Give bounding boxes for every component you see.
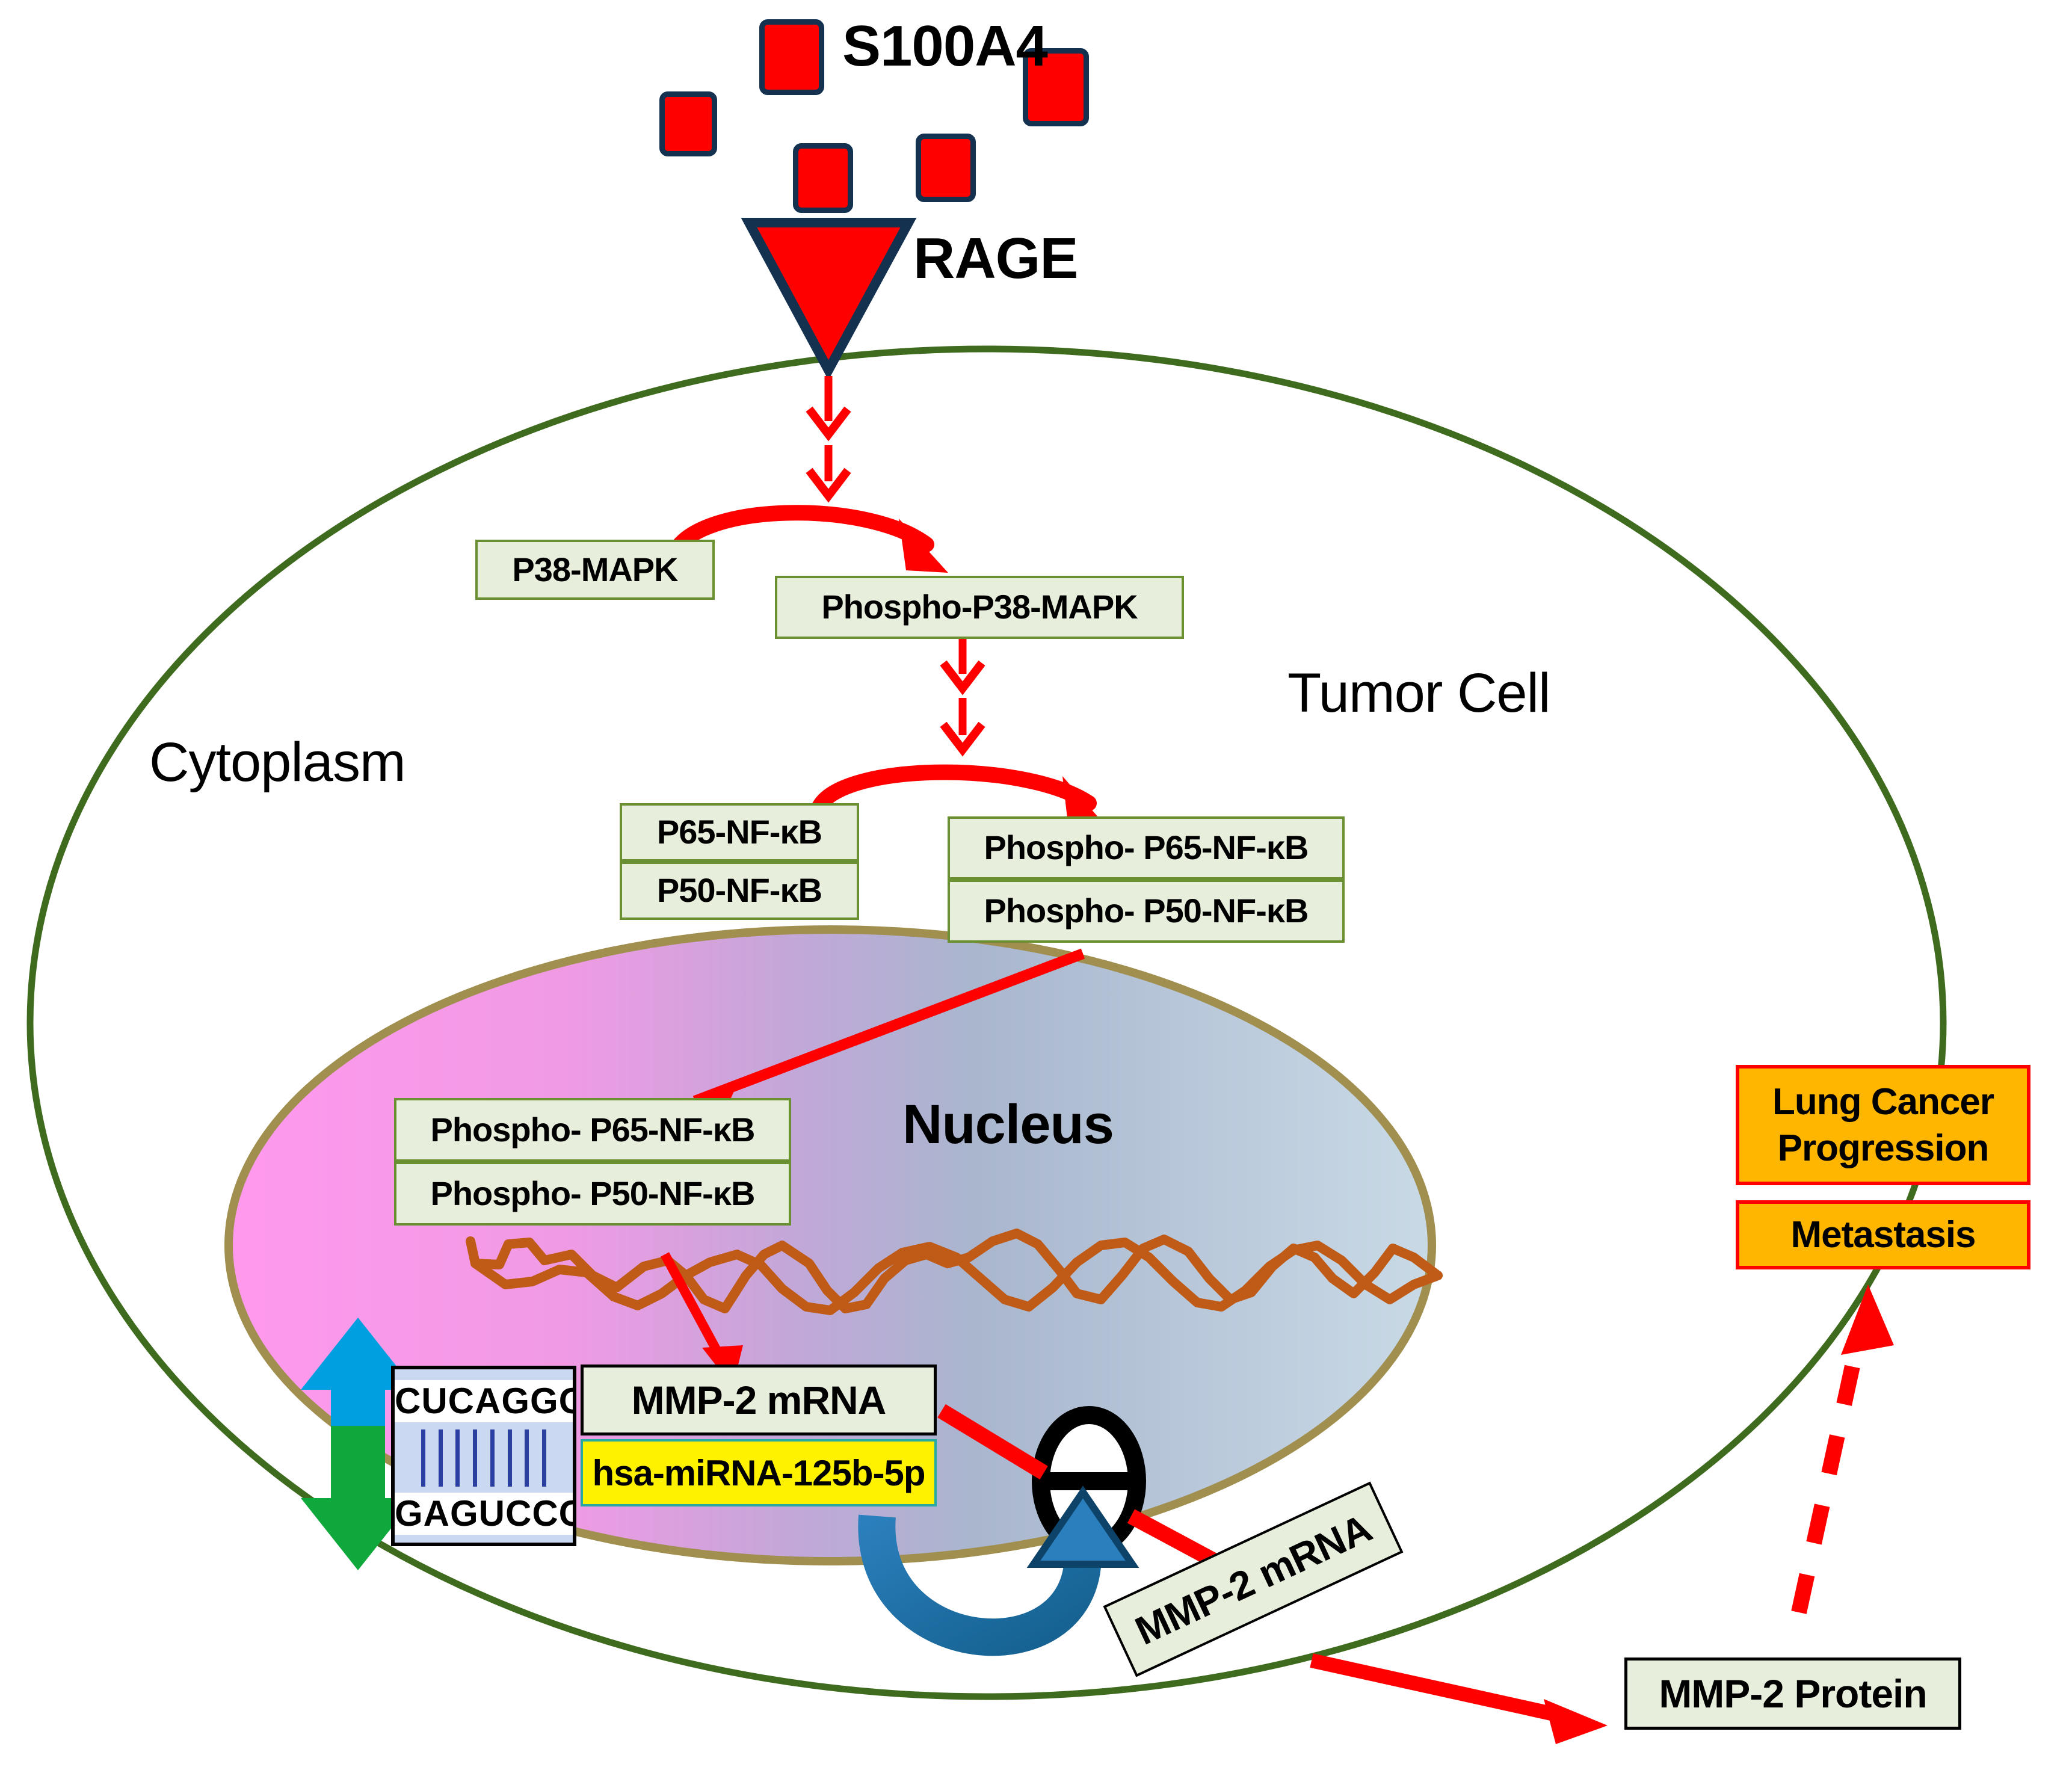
pathway-diagram: S100A4 RAGE Tumor Cell Cytoplasm Nucleus…: [0, 0, 2072, 1767]
node-phospho-p50-nfkb[interactable]: Phospho- P50-NF-κB: [948, 880, 1345, 943]
arrow-p38-to-phospho-p38: [674, 513, 948, 573]
s100a4-monomer: [793, 143, 853, 213]
node-p65-nfkb[interactable]: P65-NF-κB: [620, 803, 859, 862]
bond: [439, 1429, 443, 1487]
arrow-protein-to-metastasis: [1799, 1284, 1894, 1612]
node-mmp2-mrna-nuclear[interactable]: MMP-2 mRNA: [581, 1365, 937, 1435]
node-p38-mapk[interactable]: P38-MAPK: [475, 540, 715, 600]
arrow-translation: [1312, 1661, 1608, 1744]
node-label: Metastasis: [1790, 1212, 1975, 1259]
bond: [525, 1429, 529, 1487]
node-label: Phospho- P50-NF-κB: [431, 1176, 755, 1212]
node-metastasis[interactable]: Metastasis: [1736, 1200, 2030, 1269]
bond: [490, 1429, 495, 1487]
node-phospho-p65-nfkb[interactable]: Phospho- P65-NF-κB: [948, 816, 1345, 880]
bond: [508, 1429, 512, 1487]
node-label: P38-MAPK: [512, 552, 677, 588]
node-label: Lung CancerProgression: [1772, 1079, 1994, 1172]
nucleus-label: Nucleus: [902, 1093, 1114, 1156]
node-hsa-mirna-125b-5p[interactable]: hsa-miRNA-125b-5p: [581, 1439, 937, 1506]
s100a4-monomer: [916, 134, 976, 202]
node-label: Phospho- P50-NF-κB: [984, 893, 1309, 929]
tumor-cell-label: Tumor Cell: [1287, 662, 1550, 725]
arrow-phosphop38-to-nfkb: [943, 635, 982, 750]
rage-label: RAGE: [913, 226, 1078, 292]
bond: [473, 1429, 477, 1487]
bond: [455, 1429, 460, 1487]
rna-hydrogen-bonds: [395, 1429, 573, 1487]
rage-receptor-icon: [749, 223, 908, 370]
node-label: Phospho- P65-NF-κB: [984, 830, 1309, 866]
node-label: hsa-miRNA-125b-5p: [592, 1452, 925, 1494]
bond: [421, 1429, 425, 1487]
node-phospho-p38-mapk[interactable]: Phospho-P38-MAPK: [775, 576, 1184, 639]
s100a4-monomer: [659, 91, 717, 156]
cytoplasm-label: Cytoplasm: [149, 731, 405, 794]
node-nuclear-phospho-p50-nfkb[interactable]: Phospho- P50-NF-κB: [394, 1162, 791, 1226]
node-label: P65-NF-κB: [657, 815, 822, 850]
node-label: Phospho- P65-NF-κB: [431, 1112, 755, 1148]
bond: [542, 1429, 546, 1487]
node-label: P50-NF-κB: [657, 873, 822, 908]
s100a4-monomer: [759, 19, 824, 95]
node-label: MMP-2 mRNA: [632, 1377, 886, 1423]
rna-top-strand: CUCAGGGA: [395, 1380, 573, 1422]
arrow-rage-to-p38: [809, 376, 848, 496]
node-label: MMP-2 Protein: [1659, 1671, 1926, 1716]
node-nuclear-phospho-p65-nfkb[interactable]: Phospho- P65-NF-κB: [394, 1098, 791, 1162]
node-mmp2-protein[interactable]: MMP-2 Protein: [1624, 1658, 1961, 1730]
mirna-target-duplex: CUCAGGGA GAGUCCCU: [391, 1366, 576, 1546]
node-p50-nfkb[interactable]: P50-NF-κB: [620, 862, 859, 920]
node-lung-cancer-progression[interactable]: Lung CancerProgression: [1736, 1065, 2030, 1185]
node-label: Phospho-P38-MAPK: [821, 590, 1137, 625]
rna-bottom-strand: GAGUCCCU: [395, 1493, 573, 1535]
s100a4-label: S100A4: [842, 13, 1047, 79]
